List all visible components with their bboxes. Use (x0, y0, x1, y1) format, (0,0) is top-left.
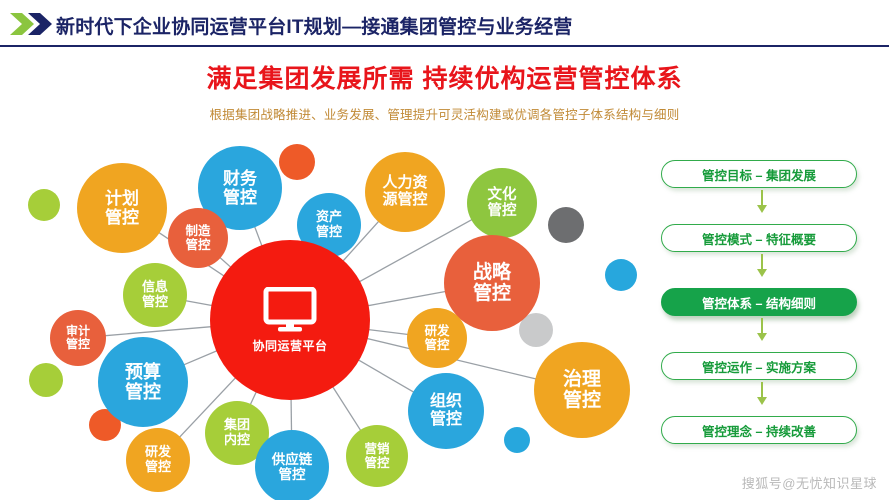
node-label: 供应链 管控 (272, 452, 313, 482)
deco-green-left (29, 363, 63, 397)
flow-step-goal[interactable]: 管控目标 – 集团发展 (661, 160, 857, 188)
slide-canvas: 新时代下企业协同运营平台IT规划—接通集团管控与业务经营 满足集团发展所需 持续… (0, 0, 889, 500)
page-subtitle: 根据集团战略推进、业务发展、管理提升可灵活构建或优调各管控子体系结构与细则 (0, 104, 889, 123)
node-label: 计划 管控 (105, 189, 139, 227)
node-label: 信息 管控 (142, 280, 168, 309)
monitor-icon (263, 287, 317, 333)
node-label: 集团 内控 (224, 418, 250, 447)
node-label: 治理 管控 (563, 369, 601, 412)
node-label: 资产 管控 (316, 210, 342, 239)
deco-orange-top (279, 144, 315, 180)
deco-blue-br (504, 427, 530, 453)
node-label: 营销 管控 (364, 442, 389, 470)
flow-step-label: 管控运作 – 实施方案 (702, 357, 816, 376)
node-organization[interactable]: 组织 管控 (408, 373, 484, 449)
connector-line-audit (104, 326, 214, 335)
node-label: 人力资 源管控 (382, 175, 427, 209)
connector-line-strategy (365, 291, 447, 306)
header-divider (0, 45, 889, 47)
node-manufacture[interactable]: 制造 管控 (168, 208, 228, 268)
node-label: 财务 管控 (223, 169, 257, 207)
deco-blue-right (605, 259, 637, 291)
node-rnd_right[interactable]: 研发 管控 (407, 308, 467, 368)
node-supply[interactable]: 供应链 管控 (255, 430, 329, 500)
node-budget[interactable]: 预算 管控 (98, 337, 188, 427)
flow-arrow-3 (755, 318, 769, 342)
governance-flow-chart: 管控目标 – 集团发展管控模式 – 特征概要管控体系 – 结构细则管控运作 – … (655, 160, 883, 445)
node-label: 预算 管控 (125, 362, 161, 402)
flow-step-label: 管控理念 – 持续改善 (702, 421, 816, 440)
flow-step-idea[interactable]: 管控理念 – 持续改善 (661, 416, 857, 444)
watermark: 搜狐号@无忧知识星球 (742, 473, 877, 492)
header-bar: 新时代下企业协同运营平台IT规划—接通集团管控与业务经营 (0, 0, 889, 46)
deco-green-tl (28, 189, 60, 221)
node-label: 文化 管控 (488, 187, 517, 219)
header-title: 新时代下企业协同运营平台IT规划—接通集团管控与业务经营 (56, 12, 573, 39)
page-title: 满足集团发展所需 持续优构运营管控体系 (0, 59, 889, 95)
connector-line-budget (183, 350, 220, 366)
node-governance[interactable]: 治理 管控 (534, 342, 630, 438)
node-label: 制造 管控 (185, 224, 210, 252)
flow-arrow-1 (755, 190, 769, 214)
node-rnd_left[interactable]: 研发 管控 (126, 428, 190, 492)
node-culture[interactable]: 文化 管控 (467, 168, 537, 238)
node-label: 研发 管控 (424, 324, 449, 352)
connector-line-rnd_right (365, 329, 409, 334)
flow-step-mode[interactable]: 管控模式 – 特征概要 (661, 224, 857, 252)
hub-label: 协同运营平台 (252, 337, 327, 354)
node-marketing[interactable]: 营销 管控 (346, 425, 408, 487)
flow-step-label: 管控模式 – 特征概要 (702, 229, 816, 248)
node-label: 战略 管控 (473, 262, 511, 305)
flow-arrow-4 (755, 382, 769, 406)
double-chevron-icon (8, 11, 54, 37)
deco-gray-dark (548, 207, 584, 243)
connector-line-organization (356, 358, 415, 393)
flow-arrow-2 (755, 254, 769, 278)
flow-step-operate[interactable]: 管控运作 – 实施方案 (661, 352, 857, 380)
connector-line-marketing (331, 384, 361, 432)
flow-step-label: 管控目标 – 集团发展 (702, 165, 816, 184)
node-audit[interactable]: 审计 管控 (50, 310, 106, 366)
node-info[interactable]: 信息 管控 (123, 263, 187, 327)
flow-step-system[interactable]: 管控体系 – 结构细则 (661, 288, 857, 316)
node-label: 组织 管控 (430, 393, 462, 429)
node-plan[interactable]: 计划 管控 (77, 163, 167, 253)
node-label: 审计 管控 (66, 325, 90, 352)
flow-step-label: 管控体系 – 结构细则 (702, 293, 816, 312)
node-hr[interactable]: 人力资 源管控 (365, 152, 445, 232)
hub-and-spoke-diagram: 计划 管控财务 管控制造 管控资产 管控人力资 源管控文化 管控信息 管控审计 … (0, 130, 660, 500)
node-label: 研发 管控 (145, 445, 171, 474)
central-hub-platform[interactable]: 协同运营平台 (210, 240, 370, 400)
